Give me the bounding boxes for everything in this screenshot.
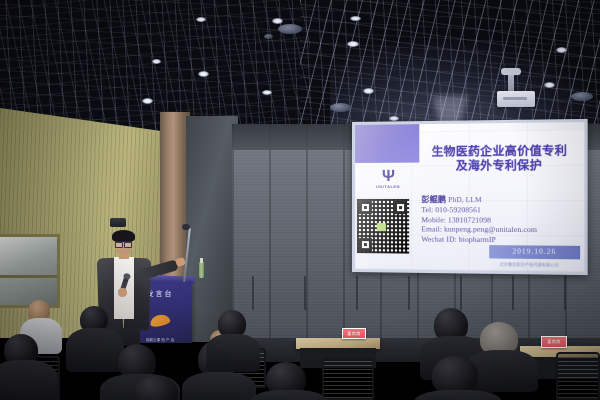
downlight-icon [350, 16, 361, 21]
chair [322, 358, 374, 400]
downlight-icon [347, 41, 359, 47]
audience-member [256, 362, 318, 400]
audience-member [0, 334, 56, 400]
downlight-icon [262, 90, 272, 95]
contact-wechat: Wechat ID: biopharmIP [421, 234, 580, 245]
audience-member [124, 376, 194, 400]
downlight-icon [544, 82, 555, 88]
qr-finder-icon [359, 238, 372, 251]
ceiling-vent-icon [278, 24, 302, 34]
downlight-icon [198, 71, 209, 77]
ceiling-vent-icon [571, 92, 593, 101]
downlight-icon [152, 59, 161, 64]
slide-title: 生物医药企业高价值专利 及海外专利保护 [415, 143, 584, 173]
audience-head [134, 376, 178, 400]
audience-member [208, 310, 256, 366]
contact-email: Email: kunpeng.peng@unitalen.com [421, 225, 580, 236]
downlight-icon [272, 18, 283, 24]
ceiling-vent-icon [330, 103, 351, 112]
audience-body [250, 390, 328, 400]
panel-hanger-straps [236, 276, 596, 310]
speaker-degrees: PhD, LLM [448, 196, 481, 204]
downlight-icon [142, 98, 153, 104]
slide-accent-block [355, 124, 419, 163]
water-bottle [199, 262, 204, 278]
photo-scene: Ψ UNITALEN 生物医药企业高价值专利 及海外专利保护 彭鲲鹏 PhD, … [0, 0, 600, 400]
audience-body [414, 390, 502, 400]
speaker-mic-hand [118, 288, 127, 297]
projector-icon [497, 91, 535, 107]
table-placard: 嘉宾席 [342, 328, 366, 339]
contact-tel: Tel: 010-59208561 [421, 206, 580, 216]
qr-center-highlight [377, 223, 386, 231]
microphone-head-icon [182, 224, 190, 230]
presentation-slide: Ψ UNITALEN 生物医药企业高价值专利 及海外专利保护 彭鲲鹏 PhD, … [355, 122, 584, 272]
unitalen-logo: Ψ UNITALEN [371, 169, 405, 195]
unitalen-logo-mark: Ψ [371, 169, 405, 184]
unitalen-logo-word: UNITALEN [371, 184, 405, 190]
speaker-name-line: 彭鲲鹏 PhD, LLM [421, 195, 580, 206]
qr-finder-icon [394, 201, 407, 214]
downlight-icon [556, 47, 567, 53]
audience-member [418, 356, 490, 400]
speaker-name: 彭鲲鹏 [421, 195, 446, 204]
wall-camera-icon [110, 218, 126, 227]
audience-body [0, 360, 58, 400]
mid-wall-dark [186, 116, 238, 342]
downlight-icon [363, 88, 374, 94]
slide-title-line2: 及海外专利保护 [415, 157, 584, 172]
slide-footer-company: 北京集佳知识产权代理有限公司 [481, 261, 578, 268]
chair [556, 352, 600, 400]
qr-finder-icon [359, 201, 372, 214]
slide-contact-block: 彭鲲鹏 PhD, LLM Tel: 010-59208561 Mobile: 1… [421, 195, 580, 245]
qr-code-icon [357, 199, 409, 254]
table-placard-text: 嘉宾席 [542, 337, 566, 344]
projector-mount [508, 73, 514, 93]
projection-screen: Ψ UNITALEN 生物医药企业高价值专利 及海外专利保护 彭鲲鹏 PhD, … [352, 119, 588, 275]
downlight-icon [196, 17, 206, 22]
table-placard-text: 嘉宾席 [343, 329, 365, 336]
left-wall-window [0, 234, 60, 308]
ceiling-vent-icon [264, 34, 273, 39]
slide-top-bar [419, 122, 584, 131]
slide-date: 2019.10.26 [489, 245, 580, 259]
glasses-icon [115, 241, 132, 245]
slide-title-line1: 生物医药企业高价值专利 [415, 143, 584, 159]
audience-body [206, 334, 260, 372]
downlight-icon [389, 116, 399, 121]
table-placard: 嘉宾席 [541, 336, 567, 348]
